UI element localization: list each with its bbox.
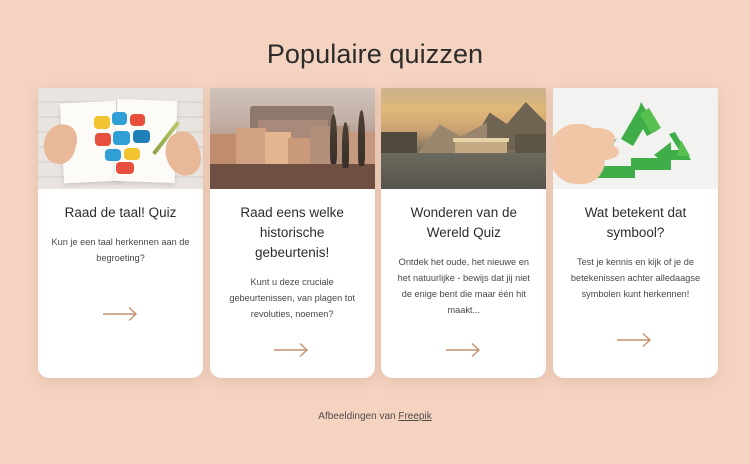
freepik-link[interactable]: Freepik	[398, 411, 431, 422]
card-title: Raad eens welke historische gebeurtenis!	[223, 203, 362, 263]
quiz-card-symbols[interactable]: Wat betekent dat symbool? Test je kennis…	[553, 88, 718, 378]
arrow-right-icon[interactable]	[38, 276, 203, 378]
card-title: Wonderen van de Wereld Quiz	[394, 203, 533, 243]
arrow-right-icon[interactable]	[553, 312, 718, 378]
card-title: Raad de taal! Quiz	[51, 203, 190, 223]
quiz-card-language[interactable]: Raad de taal! Quiz Kun je een taal herke…	[38, 88, 203, 378]
card-image-greek-temple	[381, 88, 546, 189]
card-image-recycling-symbol	[553, 88, 718, 189]
card-body: Raad de taal! Quiz Kun je een taal herke…	[38, 189, 203, 276]
card-body: Raad eens welke historische gebeurtenis!…	[210, 189, 375, 328]
footer-attribution: Afbeeldingen van Freepik	[0, 409, 750, 425]
card-title: Wat betekent dat symbool?	[566, 203, 705, 243]
footer-prefix: Afbeeldingen van	[318, 411, 398, 422]
quiz-card-history[interactable]: Raad eens welke historische gebeurtenis!…	[210, 88, 375, 378]
quiz-card-wonders[interactable]: Wonderen van de Wereld Quiz Ontdek het o…	[381, 88, 546, 378]
card-body: Wat betekent dat symbool? Test je kennis…	[553, 189, 718, 312]
card-description: Kunt u deze cruciale gebeurtenissen, van…	[223, 274, 362, 322]
card-image-roman-ruins	[210, 88, 375, 189]
card-body: Wonderen van de Wereld Quiz Ontdek het o…	[381, 189, 546, 328]
card-description: Ontdek het oude, het nieuwe en het natuu…	[394, 254, 533, 318]
card-image-notebook	[38, 88, 203, 189]
card-description: Kun je een taal herkennen aan de begroet…	[51, 234, 190, 266]
card-description: Test je kennis en kijk of je de betekeni…	[566, 254, 705, 302]
arrow-right-icon[interactable]	[381, 328, 546, 378]
quiz-landing-page: Populaire quizzen	[0, 0, 750, 464]
quiz-cards-row: Raad de taal! Quiz Kun je een taal herke…	[38, 88, 718, 378]
page-title: Populaire quizzen	[0, 37, 750, 71]
arrow-right-icon[interactable]	[210, 328, 375, 378]
